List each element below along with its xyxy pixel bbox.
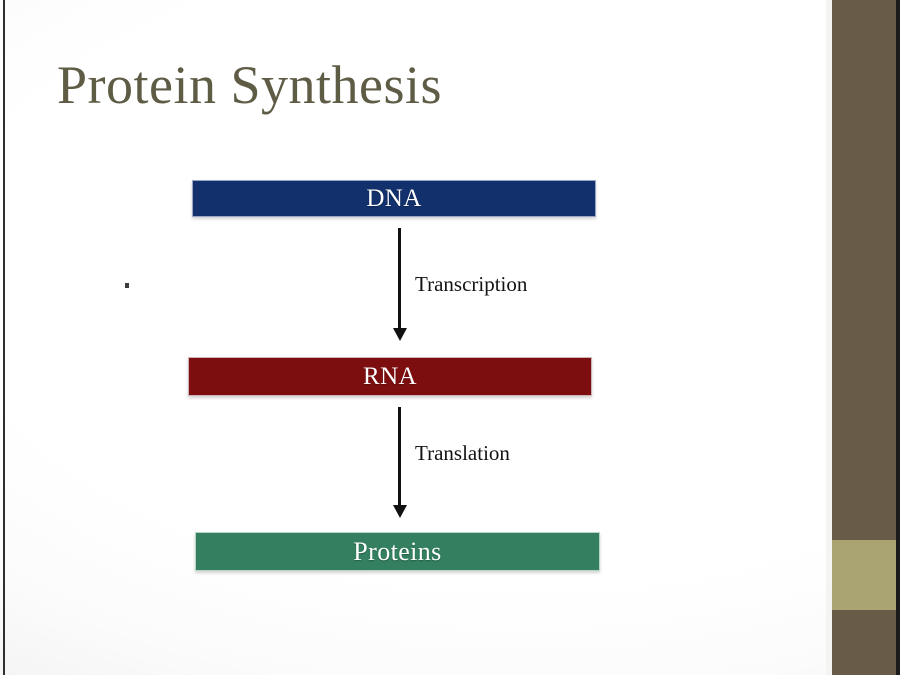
arrow-head [393,505,407,518]
arrow-label-transcription: Transcription [415,272,527,297]
diagram-node-rna: RNA [188,357,592,396]
diagram-node-rna-label: RNA [363,363,417,391]
diagram-node-dna: DNA [192,180,596,217]
slide-left-edge-rule [3,0,5,675]
arrow-shaft [398,407,401,507]
arrow-head [393,328,407,341]
diagram-node-dna-label: DNA [366,185,421,213]
stray-period-mark [125,283,129,288]
sidebar-accent-block [832,540,896,610]
presentation-slide: Protein Synthesis DNA Transcription RNA … [0,0,900,675]
arrow-down-transcription-icon [392,228,408,343]
diagram-node-proteins-label: Proteins [353,537,441,567]
arrow-shaft [398,228,401,330]
arrow-label-translation: Translation [415,441,510,466]
diagram-node-proteins: Proteins [195,532,600,571]
slide-right-edge-rule [896,0,900,675]
page-title: Protein Synthesis [57,57,442,114]
arrow-down-translation-icon [392,407,408,520]
